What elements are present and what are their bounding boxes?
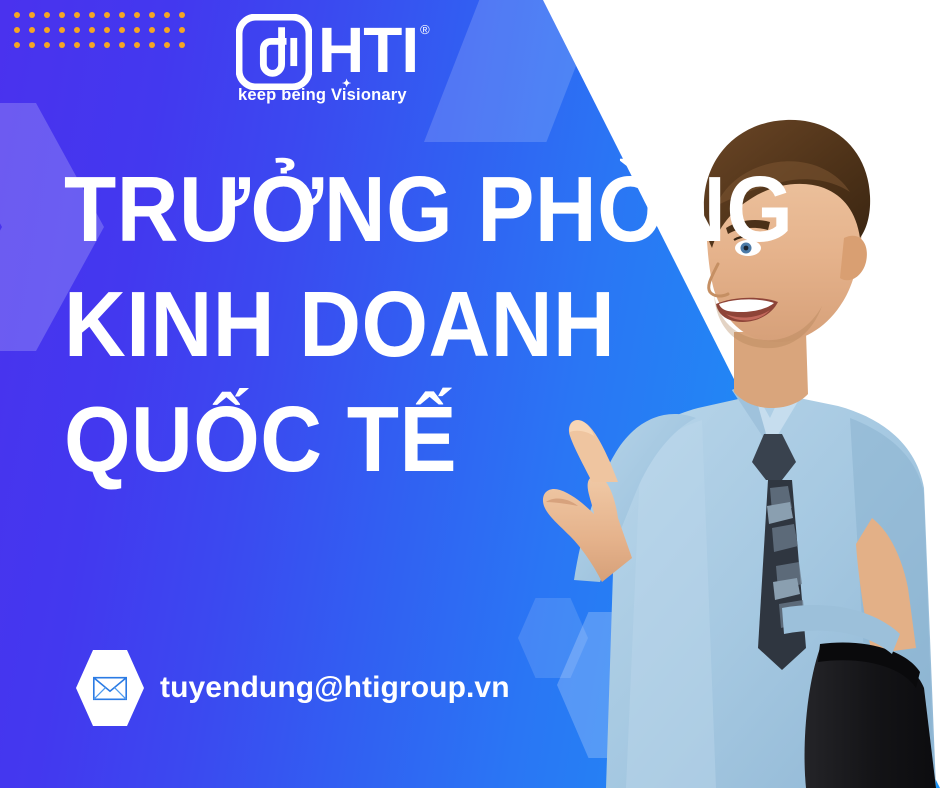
dot — [119, 27, 125, 33]
headline-line-1: TRƯỞNG PHÒNG — [64, 152, 793, 267]
logo-row: HTI ® — [236, 14, 426, 90]
dot — [89, 42, 95, 48]
dot — [164, 12, 170, 18]
logo-wordmark-wrap: HTI ® — [318, 14, 430, 82]
dot — [29, 12, 35, 18]
dot — [14, 42, 20, 48]
dot — [14, 12, 20, 18]
dot — [149, 27, 155, 33]
dot — [164, 42, 170, 48]
dot — [74, 42, 80, 48]
hti-logo: HTI ® keep being Visionary ✦ — [236, 14, 426, 105]
recruitment-banner: HTI ® keep being Visionary ✦ TRƯỞNG PHÒN… — [0, 0, 940, 788]
dot — [134, 12, 140, 18]
dot — [74, 12, 80, 18]
dot — [104, 42, 110, 48]
dot — [149, 42, 155, 48]
dot — [179, 42, 185, 48]
dot — [74, 27, 80, 33]
dot — [44, 12, 50, 18]
dot — [179, 27, 185, 33]
logo-tagline: keep being Visionary ✦ — [238, 86, 426, 105]
dot — [104, 12, 110, 18]
registered-trademark-icon: ® — [420, 23, 430, 36]
dot — [89, 27, 95, 33]
dot — [29, 27, 35, 33]
dot — [104, 27, 110, 33]
dot — [14, 27, 20, 33]
dot — [119, 42, 125, 48]
dot — [149, 12, 155, 18]
headline-line-3: QUỐC TẾ — [64, 382, 793, 497]
dot — [179, 12, 185, 18]
dot — [44, 42, 50, 48]
dot — [59, 12, 65, 18]
dot — [44, 27, 50, 33]
hti-logo-mark-icon — [236, 14, 312, 90]
envelope-icon — [92, 675, 128, 702]
dot — [119, 12, 125, 18]
dot — [59, 27, 65, 33]
headline-line-2: KINH DOANH — [64, 267, 793, 382]
dot — [29, 42, 35, 48]
dot — [89, 12, 95, 18]
dot-grid-decoration — [14, 12, 194, 57]
star-icon: ✦ — [342, 79, 351, 90]
headline-block: TRƯỞNG PHÒNG KINH DOANH QUỐC TẾ — [64, 152, 857, 497]
dot — [59, 42, 65, 48]
contact-email-row[interactable]: tuyendung@htigroup.vn — [76, 650, 510, 726]
logo-tagline-text: keep being Visionary — [238, 86, 407, 104]
contact-email-text[interactable]: tuyendung@htigroup.vn — [160, 671, 510, 705]
dot — [134, 42, 140, 48]
dot — [134, 27, 140, 33]
logo-wordmark: HTI — [318, 19, 418, 82]
email-hexagon-badge — [76, 650, 144, 726]
dot — [164, 27, 170, 33]
